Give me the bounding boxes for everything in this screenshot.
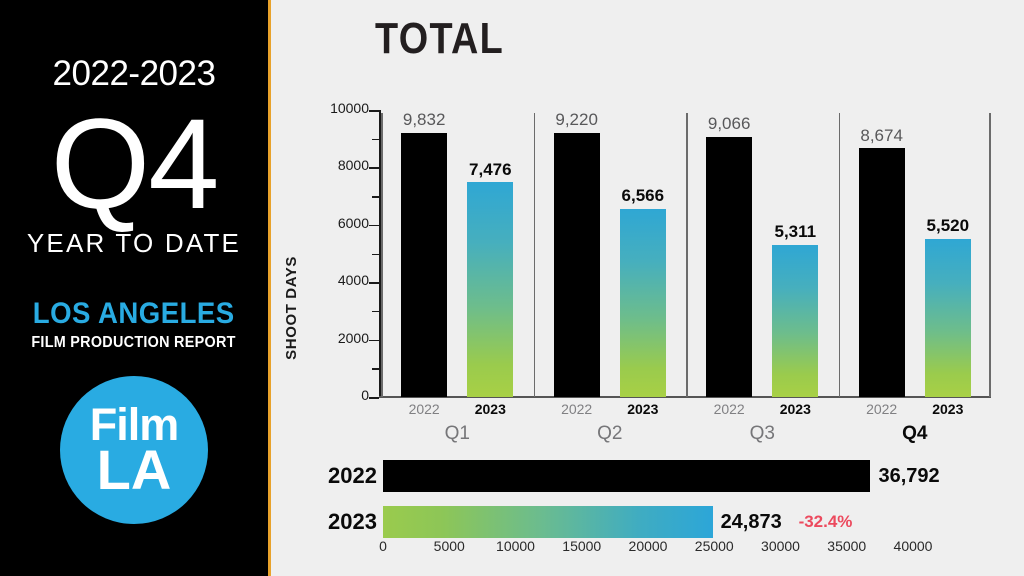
x-axis-quarter-label: Q3	[686, 423, 839, 445]
x-axis-year-label: 2023	[467, 401, 513, 423]
filmla-logo: Film LA	[60, 376, 208, 524]
bar-column-2022[interactable]: 9,832	[401, 110, 447, 397]
quarter-heading: Q4	[51, 106, 218, 224]
bar-value-label: 9,066	[708, 114, 751, 134]
bar-column-2022[interactable]: 8,674	[859, 110, 905, 397]
x-axis-year-label: 2022	[706, 401, 752, 423]
chart-title: TOTAL	[375, 14, 504, 64]
y-axis-tick-mark	[369, 282, 379, 284]
quarter-subheading: YEAR TO DATE	[27, 228, 241, 259]
bar-rect-2023[interactable]	[467, 182, 513, 397]
bar-value-label: 5,311	[775, 222, 817, 242]
bar-group-q4: 8,6745,52020222023Q4	[839, 96, 992, 442]
totals-axis-tick-label: 5000	[434, 538, 465, 554]
bar-column-2022[interactable]: 9,220	[554, 110, 600, 397]
total-row: 2023 24,873 -32.4%	[271, 502, 1024, 542]
totals-axis-tick-label: 40000	[894, 538, 933, 554]
main-panel: TOTAL SHOOT DAYS 0200040006000800010000 …	[271, 0, 1024, 576]
bar-value-label: 5,520	[927, 216, 970, 236]
bar-group-bars: 9,2206,566	[534, 110, 687, 397]
totals-chart: 2022 36,792 2023 24,873 -32.4% 050001000…	[271, 456, 1024, 566]
bar-column-2023[interactable]: 6,566	[620, 110, 666, 397]
y-axis-tick-label: 10000	[330, 100, 369, 116]
bar-column-2023[interactable]: 7,476	[467, 110, 513, 397]
bar-rect-2022[interactable]	[706, 137, 752, 397]
x-axis-year-label: 2023	[620, 401, 666, 423]
y-axis-tick-mark	[372, 311, 379, 313]
y-axis-ticks: 0200040006000800010000	[307, 110, 379, 396]
y-axis-tick-mark	[372, 139, 379, 141]
totals-axis-tick-label: 25000	[695, 538, 734, 554]
bar-group-year-labels: 20222023	[534, 401, 687, 423]
bar-rect-2023[interactable]	[620, 209, 666, 397]
bar-rect-2022[interactable]	[554, 133, 600, 397]
totals-axis-tick-label: 0	[379, 538, 387, 554]
totals-axis-tick-label: 30000	[761, 538, 800, 554]
brand-city-label: LOS ANGELES	[33, 297, 235, 331]
total-row: 2022 36,792	[271, 456, 1024, 496]
y-axis-tick-label: 6000	[338, 215, 369, 231]
bar-value-label: 7,476	[469, 160, 512, 180]
bar-rect-2023[interactable]	[772, 245, 818, 397]
bar-group-bars: 8,6745,520	[839, 110, 992, 397]
totals-x-axis: 0500010000150002000025000300003500040000	[383, 538, 913, 560]
bar-groups: 9,8327,47620222023Q19,2206,56620222023Q2…	[381, 96, 991, 442]
x-axis-quarter-label: Q1	[381, 423, 534, 445]
filmla-logo-la-text: LA	[97, 444, 172, 496]
y-axis-tick-mark	[372, 254, 379, 256]
report-years-label: 2022-2023	[53, 54, 216, 94]
x-axis-year-label: 2022	[554, 401, 600, 423]
bar-rect-2023[interactable]	[925, 239, 971, 397]
y-axis-tick-mark	[372, 368, 379, 370]
bar-group-year-labels: 20222023	[839, 401, 992, 423]
bar-value-label: 9,832	[403, 110, 446, 130]
y-axis-tick-mark	[369, 397, 379, 399]
bar-group-q3: 9,0665,31120222023Q3	[686, 96, 839, 442]
y-axis-tick-mark	[369, 110, 379, 112]
x-axis-year-label: 2023	[925, 401, 971, 423]
y-axis-title: SHOOT DAYS	[283, 256, 300, 360]
x-axis-year-label: 2022	[859, 401, 905, 423]
bar-group-q1: 9,8327,47620222023Q1	[381, 96, 534, 442]
bar-column-2023[interactable]: 5,311	[772, 110, 818, 397]
bar-group-bars: 9,8327,476	[381, 110, 534, 397]
bar-column-2023[interactable]: 5,520	[925, 110, 971, 397]
x-axis-quarter-label: Q2	[534, 423, 687, 445]
bar-column-2022[interactable]: 9,066	[706, 110, 752, 397]
bar-value-label: 8,674	[860, 126, 903, 146]
totals-axis-tick-label: 15000	[562, 538, 601, 554]
bar-rect-2022[interactable]	[401, 133, 447, 397]
bar-group-q2: 9,2206,56620222023Q2	[534, 96, 687, 442]
bar-group-year-labels: 20222023	[381, 401, 534, 423]
x-axis-quarter-label: Q4	[839, 423, 992, 445]
bar-group-year-labels: 20222023	[686, 401, 839, 423]
y-axis-tick-label: 8000	[338, 157, 369, 173]
x-axis-year-label: 2022	[401, 401, 447, 423]
y-axis-tick-label: 0	[361, 387, 369, 403]
y-axis-tick-label: 2000	[338, 330, 369, 346]
totals-axis-tick-label: 20000	[629, 538, 668, 554]
total-value-label: 36,792	[878, 456, 939, 496]
brand-subtitle-label: FILM PRODUCTION REPORT	[32, 334, 236, 352]
y-axis-tick-mark	[372, 196, 379, 198]
report-sidebar: 2022-2023 Q4 YEAR TO DATE LOS ANGELES FI…	[0, 0, 268, 576]
total-row-label: 2022	[299, 456, 377, 496]
y-axis-tick-mark	[369, 340, 379, 342]
bar-value-label: 9,220	[555, 110, 598, 130]
total-bar	[383, 460, 870, 492]
y-axis-tick-label: 4000	[338, 272, 369, 288]
bar-value-label: 6,566	[622, 186, 665, 206]
total-change-badge: -32.4%	[799, 502, 853, 542]
total-bar	[383, 506, 713, 538]
bar-group-bars: 9,0665,311	[686, 110, 839, 397]
x-axis-year-label: 2023	[772, 401, 818, 423]
total-value-label: 24,873	[721, 502, 782, 542]
totals-axis-tick-label: 35000	[827, 538, 866, 554]
grouped-bar-chart: SHOOT DAYS 0200040006000800010000 9,8327…	[271, 96, 1024, 448]
totals-axis-tick-label: 10000	[496, 538, 535, 554]
bar-rect-2022[interactable]	[859, 148, 905, 397]
y-axis-tick-mark	[369, 225, 379, 227]
total-row-label: 2023	[299, 502, 377, 542]
y-axis-tick-mark	[369, 167, 379, 169]
